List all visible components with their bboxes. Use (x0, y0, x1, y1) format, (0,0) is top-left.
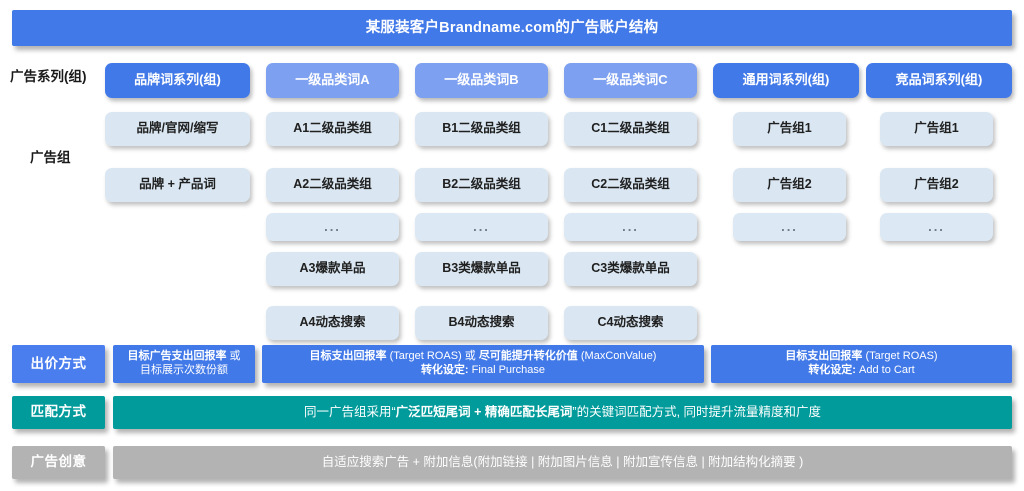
creative-text: 自适应搜索广告 + 附加信息(附加链接 | 附加图片信息 | 附加宣传信息 | … (322, 455, 804, 471)
adgroup-label: C2二级品类组 (591, 177, 669, 193)
diagram-title-bar: 某服装客户Brandname.com的广告账户结构 (12, 10, 1012, 46)
adgroup-label: C1二级品类组 (591, 121, 669, 137)
adgroup-box[interactable]: 品牌/官网/缩写 (105, 112, 250, 146)
bidding-line1-strong: 目标支出回报率 (785, 350, 862, 362)
bidding-line2-strong: 转化设定: (421, 364, 469, 376)
matching-text-post: ”的关键词匹配方式, 同时提升流量精度和广度 (572, 405, 821, 419)
adgroup-label: 品牌/官网/缩写 (137, 121, 219, 137)
row-label-campaign: 广告系列(组) (10, 65, 87, 85)
adgroup-label: 广告组1 (914, 121, 958, 137)
adgroup-label: C3类爆款单品 (591, 261, 669, 277)
diagram-title: 某服装客户Brandname.com的广告账户结构 (366, 19, 659, 37)
row-chip-label: 出价方式 (31, 356, 87, 373)
adgroup-box[interactable]: B1二级品类组 (415, 112, 548, 146)
adgroup-box-ellipsis[interactable]: ... (266, 213, 399, 241)
bidding-cell-brand: 目标广告支出回报率 或 目标展示次数份额 (113, 345, 255, 383)
matching-text-strong: 广泛匹短尾词 + 精确匹配长尾词 (396, 405, 573, 419)
bidding-line1-text-2: (MaxConValue) (578, 350, 657, 362)
adgroup-box[interactable]: 广告组1 (733, 112, 846, 146)
adgroup-label: 广告组2 (914, 177, 958, 193)
campaign-box-1[interactable]: 品牌词系列(组) (105, 63, 250, 98)
bidding-line1-strong: 目标广告支出回报率 (127, 350, 226, 362)
adgroup-box-ellipsis[interactable]: ... (564, 213, 697, 241)
campaign-box-6[interactable]: 竞品词系列(组) (866, 63, 1012, 98)
adgroup-box-ellipsis[interactable]: ... (733, 213, 846, 241)
adgroup-box-ellipsis[interactable]: ... (880, 213, 993, 241)
adgroup-label: B1二级品类组 (442, 121, 520, 137)
campaign-label: 品牌词系列(组) (134, 72, 221, 88)
adgroup-label: ... (473, 219, 490, 235)
adgroup-label: ... (622, 219, 639, 235)
adgroup-label: 广告组2 (767, 177, 811, 193)
adgroup-box[interactable]: C4动态搜索 (564, 306, 697, 340)
row-chip-label: 广告创意 (31, 454, 87, 471)
adgroup-label: B2二级品类组 (442, 177, 520, 193)
bidding-line2-text: Add to Cart (856, 364, 915, 376)
row-chip-label: 匹配方式 (31, 404, 87, 421)
adgroup-box[interactable]: B2二级品类组 (415, 168, 548, 202)
adgroup-box[interactable]: C3类爆款单品 (564, 252, 697, 286)
row-label-adgroup: 广告组 (30, 146, 71, 166)
campaign-label: 一级品类词A (295, 72, 369, 88)
adgroup-box[interactable]: B3类爆款单品 (415, 252, 548, 286)
campaign-label: 竞品词系列(组) (896, 72, 983, 88)
bidding-line2-text: Final Purchase (469, 364, 545, 376)
campaign-box-2[interactable]: 一级品类词A (266, 63, 399, 98)
adgroup-label: A3爆款单品 (300, 261, 366, 277)
bidding-cell-generic-competitor: 目标支出回报率 (Target ROAS) 转化设定: Add to Cart (711, 345, 1012, 383)
adgroup-label: A1二级品类组 (293, 121, 371, 137)
adgroup-box[interactable]: C2二级品类组 (564, 168, 697, 202)
bidding-line2-text: 目标展示次数份额 (140, 364, 228, 376)
campaign-label: 一级品类词C (593, 72, 667, 88)
adgroup-label: 广告组1 (767, 121, 811, 137)
row-chip-matching: 匹配方式 (12, 396, 105, 429)
adgroup-box[interactable]: 品牌 + 产品词 (105, 168, 250, 202)
campaign-box-4[interactable]: 一级品类词C (564, 63, 697, 98)
adgroup-box-ellipsis[interactable]: ... (415, 213, 548, 241)
adgroup-label: ... (324, 219, 341, 235)
bidding-cell-category: 目标支出回报率 (Target ROAS) 或 尽可能提升转化价值 (MaxCo… (262, 345, 704, 383)
adgroup-label: B4动态搜索 (449, 315, 515, 331)
adgroup-box[interactable]: A1二级品类组 (266, 112, 399, 146)
adgroup-box[interactable]: 广告组2 (880, 168, 993, 202)
adgroup-box[interactable]: 广告组2 (733, 168, 846, 202)
adgroup-label: A4动态搜索 (300, 315, 366, 331)
campaign-box-3[interactable]: 一级品类词B (415, 63, 548, 98)
adgroup-box[interactable]: A4动态搜索 (266, 306, 399, 340)
adgroup-box[interactable]: C1二级品类组 (564, 112, 697, 146)
adgroup-box[interactable]: A3爆款单品 (266, 252, 399, 286)
bidding-line2-strong: 转化设定: (808, 364, 856, 376)
matching-text-pre: 同一广告组采用“ (304, 405, 396, 419)
creative-cell: 自适应搜索广告 + 附加信息(附加链接 | 附加图片信息 | 附加宣传信息 | … (113, 446, 1012, 479)
adgroup-box[interactable]: B4动态搜索 (415, 306, 548, 340)
campaign-box-5[interactable]: 通用词系列(组) (713, 63, 859, 98)
adgroup-box[interactable]: 广告组1 (880, 112, 993, 146)
account-structure-diagram: 某服装客户Brandname.com的广告账户结构 广告系列(组) 广告组 品牌… (0, 0, 1024, 491)
bidding-line1-text: (Target ROAS) (862, 350, 937, 362)
bidding-line1-text: (Target ROAS) 或 (387, 350, 479, 362)
row-chip-bidding: 出价方式 (12, 345, 105, 383)
bidding-line1-strong-2: 尽可能提升转化价值 (479, 350, 578, 362)
campaign-label: 通用词系列(组) (743, 72, 830, 88)
adgroup-label: C4动态搜索 (598, 315, 664, 331)
adgroup-box[interactable]: A2二级品类组 (266, 168, 399, 202)
bidding-line1-text: 或 (226, 350, 240, 362)
adgroup-label: ... (781, 219, 798, 235)
bidding-line1-strong: 目标支出回报率 (310, 350, 387, 362)
matching-cell: 同一广告组采用“广泛匹短尾词 + 精确匹配长尾词”的关键词匹配方式, 同时提升流… (113, 396, 1012, 429)
adgroup-label: ... (928, 219, 945, 235)
adgroup-label: 品牌 + 产品词 (139, 177, 216, 193)
row-chip-creative: 广告创意 (12, 446, 105, 479)
adgroup-label: B3类爆款单品 (442, 261, 520, 277)
campaign-label: 一级品类词B (444, 72, 518, 88)
adgroup-label: A2二级品类组 (293, 177, 371, 193)
